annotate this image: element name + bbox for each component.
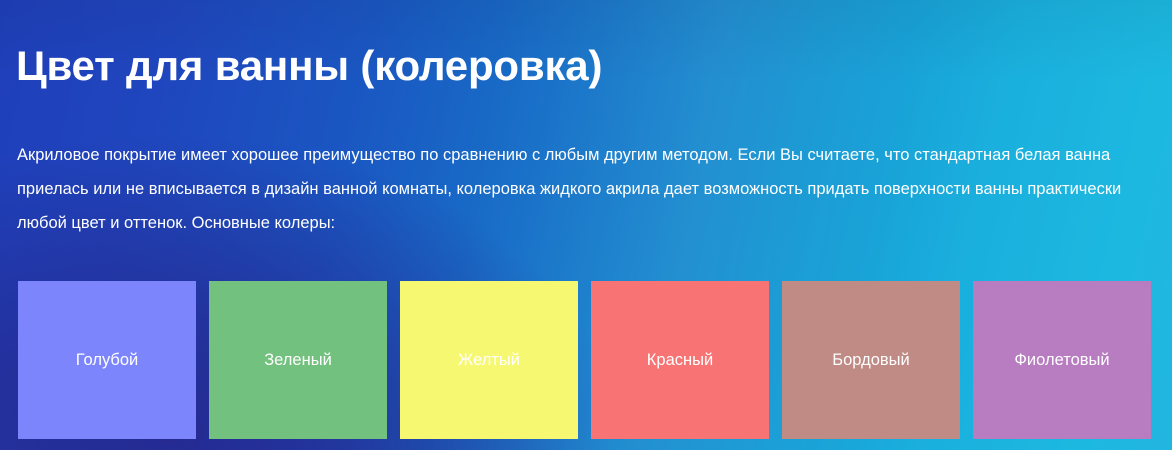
color-swatch-red[interactable]: Красный — [591, 281, 769, 439]
intro-paragraph: Акриловое покрытие имеет хорошее преимущ… — [17, 138, 1145, 240]
color-selection-banner: Цвет для ванны (колеровка) Акриловое пок… — [0, 0, 1172, 450]
color-swatch-bordeaux[interactable]: Бордовый — [782, 281, 960, 439]
color-swatch-yellow[interactable]: Желтый — [400, 281, 578, 439]
page-title: Цвет для ванны (колеровка) — [16, 42, 602, 90]
color-swatch-label: Фиолетовый — [1014, 350, 1109, 370]
color-swatch-label: Зеленый — [264, 350, 332, 370]
color-swatch-row: Голубой Зеленый Желтый Красный Бордовый … — [18, 281, 1151, 439]
color-swatch-violet[interactable]: Фиолетовый — [973, 281, 1151, 439]
color-swatch-label: Голубой — [76, 350, 139, 370]
color-swatch-blue[interactable]: Голубой — [18, 281, 196, 439]
color-swatch-label: Красный — [647, 350, 713, 370]
color-swatch-label: Бордовый — [832, 350, 909, 370]
color-swatch-label: Желтый — [458, 350, 520, 370]
color-swatch-green[interactable]: Зеленый — [209, 281, 387, 439]
